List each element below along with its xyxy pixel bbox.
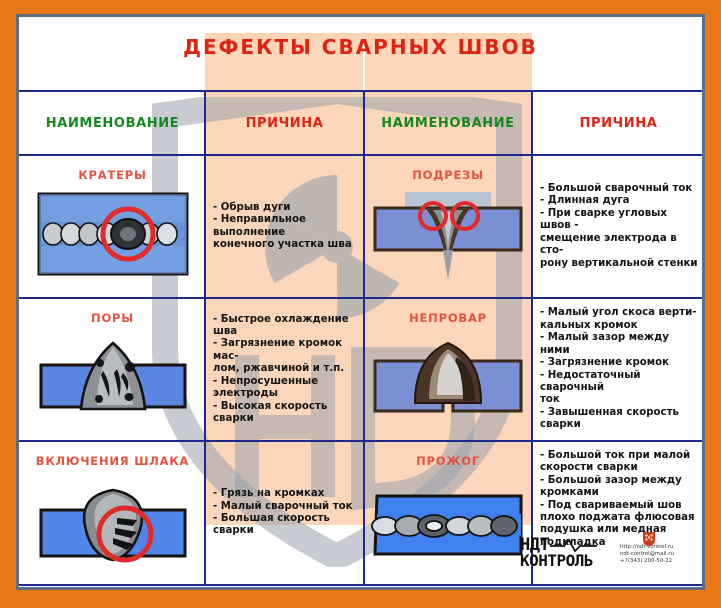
defect-cell-burn-through: ПРОЖОГ — [365, 442, 531, 584]
column-header-label: НАИМЕНОВАНИЕ — [381, 116, 514, 131]
page-title: ДЕФЕКТЫ СВАРНЫХ ШВОВ — [183, 35, 538, 59]
weld-crater-figure — [37, 188, 189, 280]
column-header-cause-left: ПРИЧИНА — [206, 92, 363, 154]
defect-cause-lack-of-fusion: - Малый угол скоса верти- кальных кромок… — [533, 299, 704, 440]
column-header-cause-right: ПРИЧИНА — [533, 92, 704, 154]
weld-undercut-figure — [371, 188, 525, 284]
cause-text: - Малый угол скоса верти- кальных кромок… — [540, 307, 698, 431]
shield-badge-icon — [642, 531, 656, 547]
cause-text: - Обрыв дуги - Неправильное выполнение к… — [213, 202, 357, 252]
cause-text: - Большой сварочный ток - Длинная дуга -… — [540, 183, 698, 270]
cause-text: - Грязь на кромках - Малый сварочный ток… — [213, 488, 357, 538]
logo-wordmark: НДТ КОНТРОЛЬ — [520, 535, 620, 569]
poster-inner-frame: ДЕФЕКТЫ СВАРНЫХ ШВОВ НАИМЕНОВАНИЕ ПРИЧИН… — [16, 14, 705, 590]
defect-name-label: НЕПРОВАР — [409, 311, 487, 325]
logo-line-2: КОНТРОЛЬ — [520, 553, 620, 569]
logo-phone: +7(343) 200-50-22 — [620, 558, 674, 565]
defect-name-label: ВКЛЮЧЕНИЯ ШЛАКА — [36, 454, 189, 468]
defect-name-label: КРАТЕРЫ — [78, 168, 146, 182]
cause-text: - Быстрое охлаждение шва - Загрязнение к… — [213, 314, 357, 426]
defect-name-label: ПОРЫ — [91, 311, 134, 325]
defects-table: НАИМЕНОВАНИЕ ПРИЧИНА НАИМЕНОВАНИЕ ПРИЧИН… — [19, 76, 702, 587]
defect-cause-undercut: - Большой сварочный ток - Длинная дуга -… — [533, 156, 704, 297]
ndt-control-logo[interactable]: НДТ КОНТРОЛЬ http://ndt-control.ru — [520, 535, 696, 585]
defect-name-label: ПРОЖОГ — [416, 454, 480, 468]
poster-title-bar: ДЕФЕКТЫ СВАРНЫХ ШВОВ — [19, 17, 702, 76]
logo-contacts: http://ndt-control.ru ndt-control@mail.r… — [620, 535, 674, 566]
defect-cause-slag-inclusion: - Грязь на кромках - Малый сварочный ток… — [206, 442, 363, 584]
column-header-label: ПРИЧИНА — [246, 116, 324, 131]
defect-cause-porosity: - Быстрое охлаждение шва - Загрязнение к… — [206, 299, 363, 440]
defect-cause-craters: - Обрыв дуги - Неправильное выполнение к… — [206, 156, 363, 297]
logo-email[interactable]: ndt-control@mail.ru — [620, 551, 674, 558]
column-header-name-left: НАИМЕНОВАНИЕ — [21, 92, 204, 154]
column-header-label: ПРИЧИНА — [580, 116, 658, 131]
defect-cell-undercut: ПОДРЕЗЫ — [365, 156, 531, 297]
column-header-label: НАИМЕНОВАНИЕ — [46, 116, 179, 131]
column-header-name-right: НАИМЕНОВАНИЕ — [365, 92, 531, 154]
defect-cell-porosity: ПОРЫ — [21, 299, 204, 440]
defect-name-label: ПОДРЕЗЫ — [412, 168, 484, 182]
weld-slag-inclusion-figure — [37, 482, 189, 572]
defect-cell-slag-inclusion: ВКЛЮЧЕНИЯ ШЛАКА — [21, 442, 204, 584]
poster-root: ДЕФЕКТЫ СВАРНЫХ ШВОВ НАИМЕНОВАНИЕ ПРИЧИН… — [0, 0, 721, 608]
weld-burn-through-figure — [371, 488, 525, 568]
weld-porosity-figure — [37, 337, 189, 421]
defect-cell-lack-of-fusion: НЕПРОВАР — [365, 299, 531, 440]
weld-lack-of-fusion-figure — [371, 337, 525, 423]
defect-cell-craters: КРАТЕРЫ — [21, 156, 204, 297]
